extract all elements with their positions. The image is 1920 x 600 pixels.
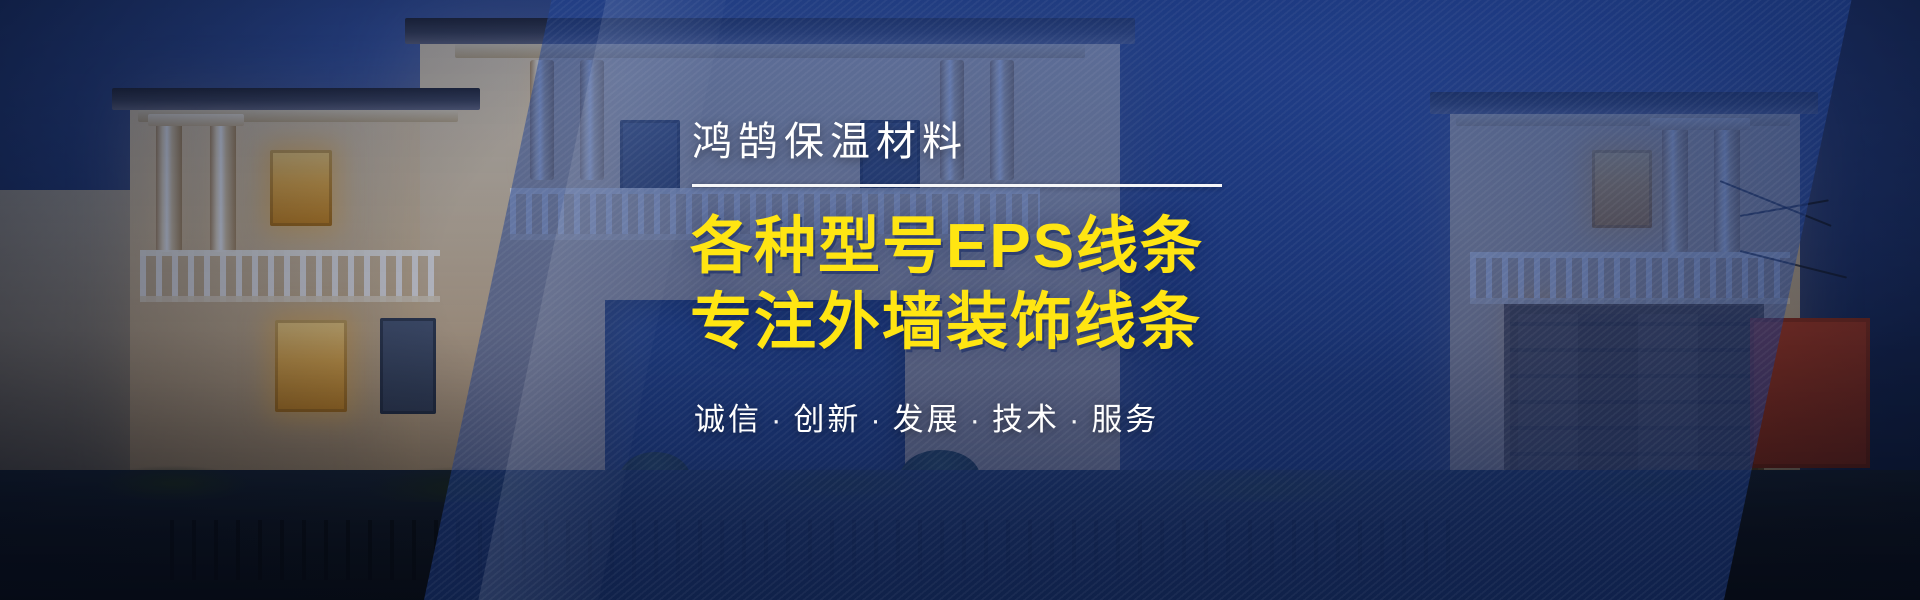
slogan-separator: · — [1069, 402, 1082, 437]
slogan-item: 诚信 — [694, 402, 762, 437]
company-name: 鸿鹄保温材料 — [690, 120, 1310, 164]
slogan-item: 创新 — [793, 402, 861, 437]
promo-banner: 鸿鹄保温材料 各种型号EPS线条 专注外墙装饰线条 诚信·创新·发展·技术·服务 — [0, 0, 1920, 600]
slogan-item: 发展 — [893, 402, 961, 437]
slogan-separator: · — [970, 402, 983, 437]
banner-copy: 鸿鹄保温材料 各种型号EPS线条 专注外墙装饰线条 诚信·创新·发展·技术·服务 — [690, 120, 1310, 439]
slogan: 诚信·创新·发展·技术·服务 — [694, 394, 1310, 439]
headline-line-1: 各种型号EPS线条 — [690, 209, 1310, 285]
divider-rule — [692, 184, 1222, 187]
slogan-separator: · — [771, 402, 784, 437]
slogan-separator: · — [870, 402, 883, 437]
slogan-item: 服务 — [1091, 402, 1159, 437]
headline-line-2: 专注外墙装饰线条 — [690, 285, 1310, 361]
slogan-item: 技术 — [992, 402, 1060, 437]
